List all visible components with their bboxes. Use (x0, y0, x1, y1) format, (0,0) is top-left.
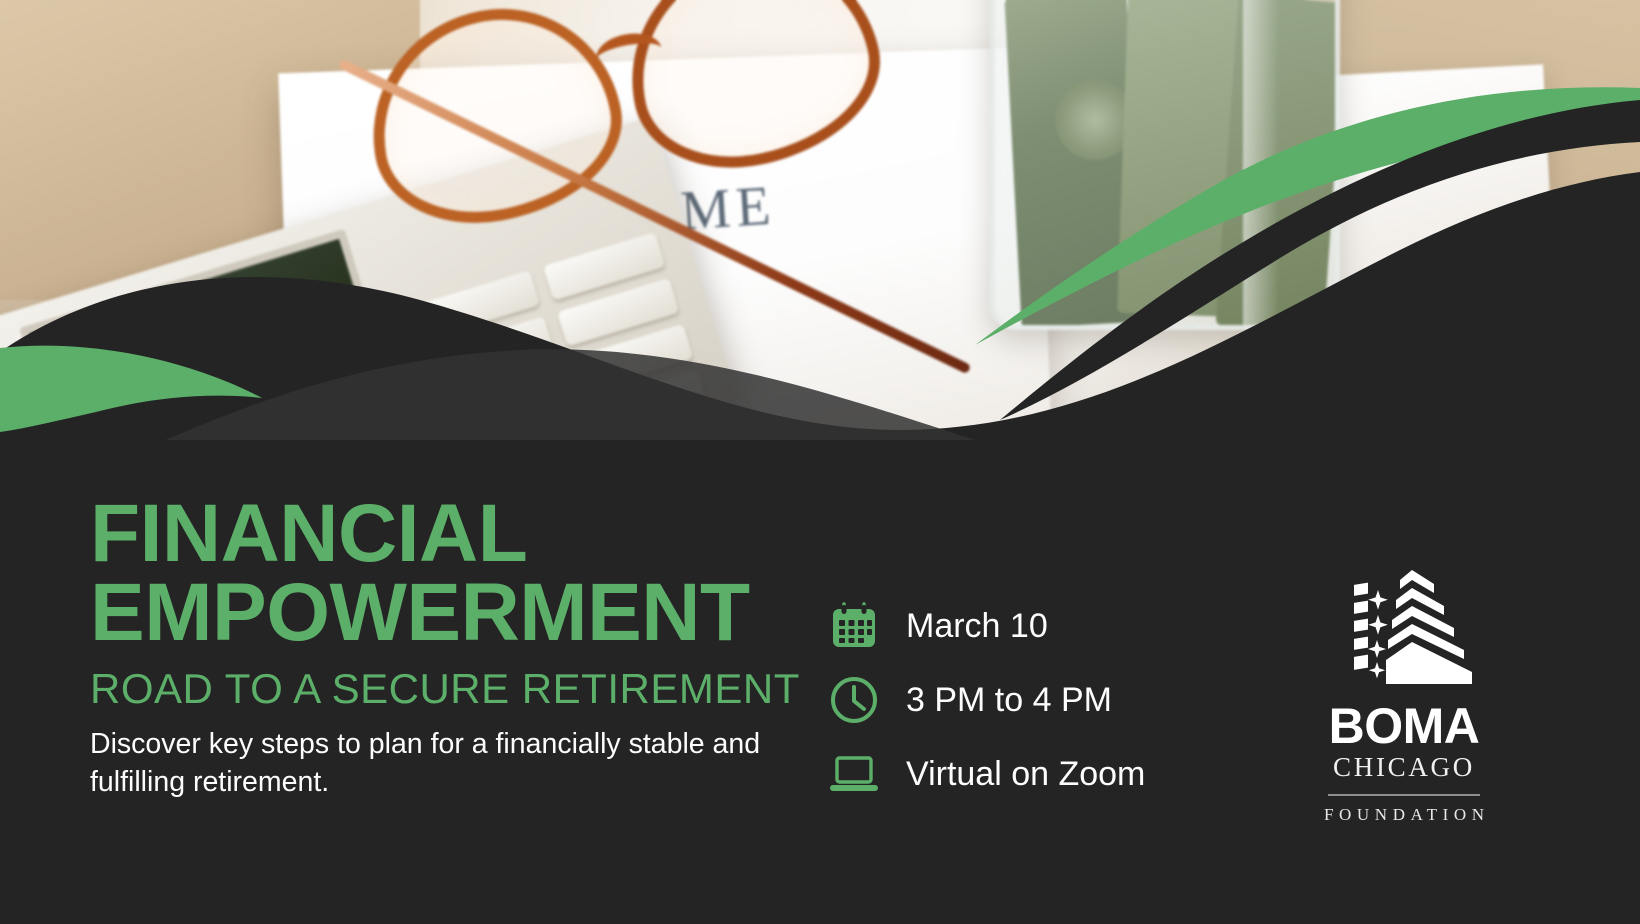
wave-decoration (0, 0, 1640, 470)
boma-chicago-foundation-logo: BOMA CHICAGO FOUNDATION (1316, 560, 1492, 825)
event-details-list: March 10 3 PM to 4 PM Virtual on Zoom (828, 600, 1145, 800)
logo-city: CHICAGO (1333, 753, 1475, 783)
calendar-icon (828, 600, 880, 652)
detail-row-date: March 10 (828, 600, 1145, 652)
page-title: FINANCIAL EMPOWERMENT (90, 495, 790, 652)
laptop-icon (828, 748, 880, 800)
headline-line-2: EMPOWERMENT (90, 574, 790, 653)
detail-row-location: Virtual on Zoom (828, 748, 1145, 800)
event-promo-banner: RETIREME PLAN (0, 0, 1640, 924)
description-text: Discover key steps to plan for a financi… (90, 726, 790, 801)
logo-divider (1328, 794, 1480, 796)
detail-label-location: Virtual on Zoom (906, 755, 1145, 794)
boma-building-mark (1334, 560, 1474, 695)
headline-line-1: FINANCIAL (90, 495, 790, 574)
detail-row-time: 3 PM to 4 PM (828, 674, 1145, 726)
clock-icon (828, 674, 880, 726)
detail-label-date: March 10 (906, 607, 1048, 646)
detail-label-time: 3 PM to 4 PM (906, 681, 1112, 720)
logo-org-type: FOUNDATION (1318, 805, 1489, 825)
subtitle: ROAD TO A SECURE RETIREMENT (90, 665, 800, 713)
logo-wordmark: BOMA (1329, 701, 1480, 751)
